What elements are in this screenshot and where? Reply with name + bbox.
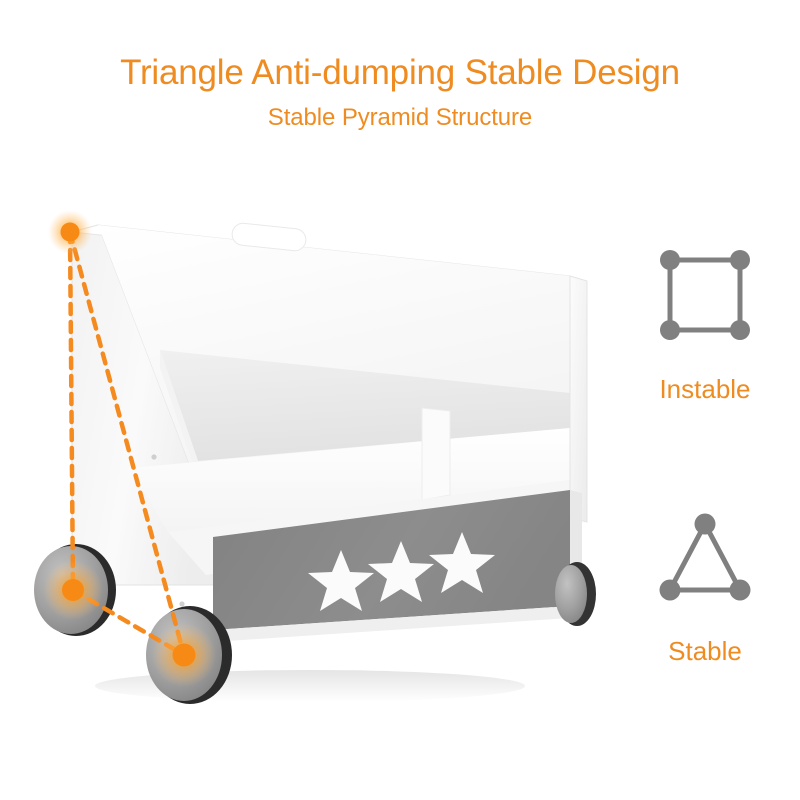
square-four-node-icon: [650, 240, 760, 350]
vertex-apex-top-rear: [48, 210, 92, 254]
diagram-stable: Stable: [620, 502, 790, 666]
stability-comparison-column: Instable Stable: [620, 240, 790, 690]
diagram-stable-label: Stable: [620, 636, 790, 666]
triangle-three-node-icon: [650, 502, 760, 612]
shelf-right-side-panel: [570, 276, 587, 522]
vertex-wheel-front-left: [152, 623, 216, 687]
header-block: Triangle Anti-dumping Stable Design Stab…: [0, 52, 800, 133]
infographic-page: Triangle Anti-dumping Stable Design Stab…: [0, 0, 800, 800]
triangle-edge-apex-rear: [70, 232, 73, 590]
screw-detail-upper: [151, 454, 156, 459]
diagram-instable: Instable: [620, 240, 790, 404]
screw-detail-lower: [179, 601, 184, 606]
page-title: Triangle Anti-dumping Stable Design: [0, 52, 800, 94]
diagram-instable-label: Instable: [620, 374, 790, 404]
vertex-wheel-rear-left: [43, 560, 103, 620]
product-illustration: [10, 180, 620, 720]
shelf-tier-2-divider: [422, 408, 450, 500]
wheel-front-right: [555, 562, 596, 626]
page-subtitle: Stable Pyramid Structure: [0, 103, 800, 133]
